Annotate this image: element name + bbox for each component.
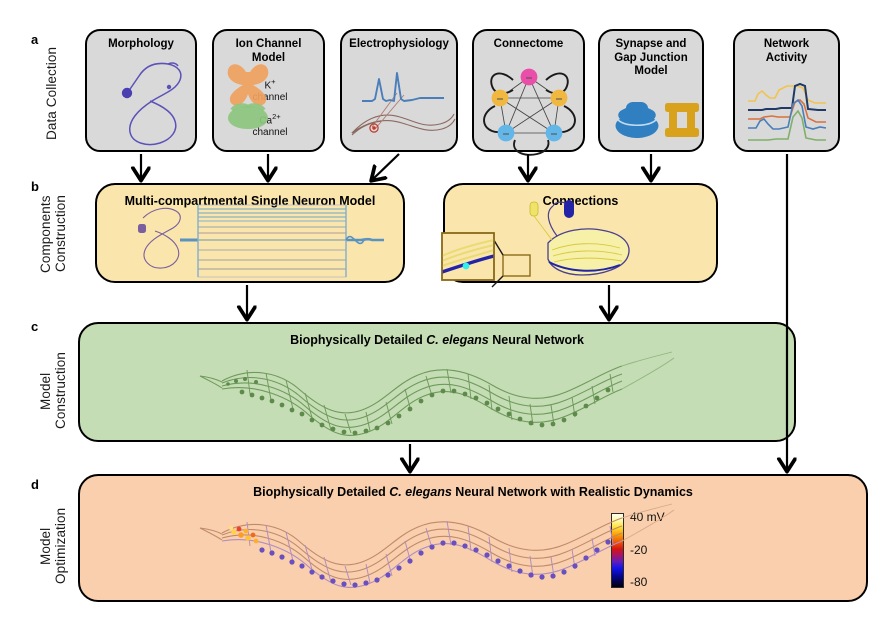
data-box-network-activity-title: Network Activity: [739, 38, 834, 65]
data-box-morphology[interactable]: Morphology: [85, 29, 197, 152]
data-box-connectome[interactable]: Connectome: [472, 29, 585, 152]
model-optimization-title: Biophysically Detailed C. elegans Neural…: [80, 485, 866, 499]
data-box-synapse-gap-junction[interactable]: Synapse and Gap Junction Model: [598, 29, 704, 152]
k-channel-label: K+channel: [225, 78, 315, 103]
mo-title-part-1: Biophysically Detailed: [253, 485, 389, 499]
ca-channel-label: Ca2+channel: [225, 113, 315, 138]
component-box-connections-title: Connections: [445, 194, 716, 208]
model-construction-panel[interactable]: Biophysically Detailed C. elegans Neural…: [78, 322, 796, 442]
row-label-model-optimization: Model Optimization: [38, 494, 68, 598]
mc-title-part-1: Biophysically Detailed: [290, 333, 426, 347]
data-box-electrophysiology[interactable]: Electrophysiology: [340, 29, 458, 152]
colorbar-tick-max: 40 mV: [630, 510, 665, 524]
model-optimization-panel[interactable]: Biophysically Detailed C. elegans Neural…: [78, 474, 868, 602]
data-box-connectome-title: Connectome: [478, 38, 579, 52]
data-box-synapse-gap-junction-title: Synapse and Gap Junction Model: [604, 38, 698, 79]
component-box-single-neuron-model[interactable]: Multi-compartmental Single Neuron Model: [95, 183, 405, 283]
data-box-electrophysiology-title: Electrophysiology: [346, 38, 452, 52]
panel-letter-d: d: [31, 478, 39, 491]
colorbar-gradient: [611, 513, 624, 588]
panel-letter-c: c: [31, 320, 38, 333]
data-box-ion-channel-model[interactable]: Ion Channel Model K+channel Ca2+channel: [212, 29, 325, 152]
arrow-electrophysiology-to-components: [373, 154, 399, 179]
mo-title-species: C. elegans: [389, 485, 452, 499]
panel-letter-a: a: [31, 33, 38, 46]
data-box-network-activity[interactable]: Network Activity: [733, 29, 840, 152]
data-box-morphology-title: Morphology: [91, 38, 191, 52]
mo-title-part-3: Neural Network with Realistic Dynamics: [452, 485, 693, 499]
figure-canvas: a b c d Data Collection Components Const…: [0, 0, 893, 624]
data-box-ion-channel-title: Ion Channel Model: [218, 38, 319, 65]
row-label-model-construction: Model Construction: [38, 343, 68, 439]
mc-title-species: C. elegans: [426, 333, 489, 347]
mc-title-part-3: Neural Network: [489, 333, 584, 347]
colorbar-tick-min: -80: [630, 575, 647, 589]
component-box-single-neuron-title: Multi-compartmental Single Neuron Model: [97, 194, 403, 208]
row-label-data-collection: Data Collection: [44, 32, 59, 154]
row-label-components-construction: Components Construction: [38, 186, 68, 282]
colorbar-tick-mid: -20: [630, 543, 647, 557]
voltage-colorbar: 40 mV -20 -80: [611, 513, 701, 593]
component-box-connections[interactable]: Connections: [443, 183, 718, 283]
model-construction-title: Biophysically Detailed C. elegans Neural…: [80, 333, 794, 347]
